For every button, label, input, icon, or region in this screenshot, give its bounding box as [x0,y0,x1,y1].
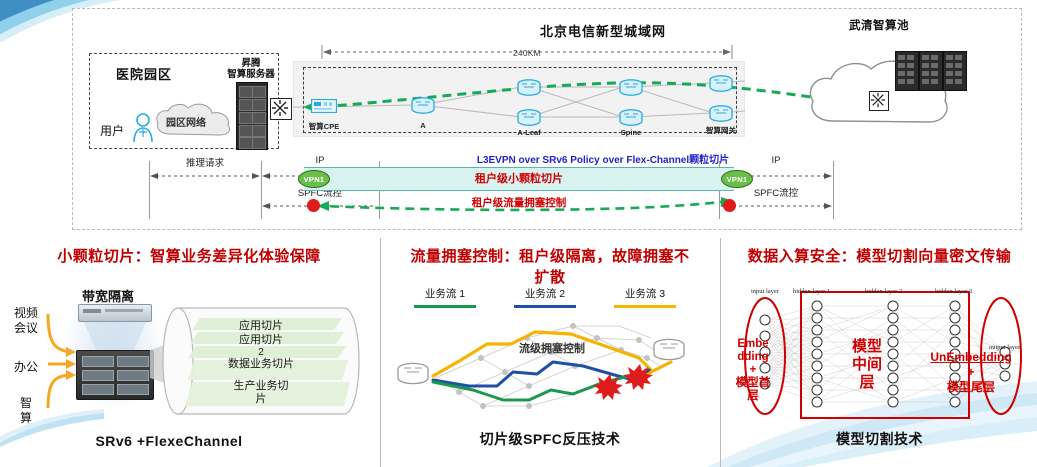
router-icon-aleaf [517,109,541,127]
legend-item-flow1: 业务流 1 [403,284,487,308]
panel-slicing-footer: SRv6 +FlexeChannel [20,433,318,449]
slice-label-4: 数据业务切片 [186,358,336,371]
ascend-server-label-line2: 智算服务器 [227,69,275,80]
measure-arrow-inference [149,169,261,181]
router-icon-spine [619,109,643,127]
vpn-badge-left: VPN1 [298,170,330,188]
annotation-embedding: Embe dding + 模型首 层 [725,338,781,403]
vpn-badge-right: VPN1 [721,170,753,188]
measure-label-ip-right: IP [719,155,833,166]
router-icon-egress [653,338,685,362]
measure-label-inference: 推理请求 [149,155,261,169]
ascend-server-label-line1: 昇腾 [241,58,260,69]
annotation-middle-l1: 模型 [852,338,882,355]
feature-panels: 小颗粒切片：智算业务差异化体验保障 带宽隔离 视频 会议 办公 智 算 [0,238,1037,467]
bandwidth-beam [72,318,158,354]
panel-security: 数据入算安全：模型切割向量密文传输 [720,238,1037,467]
node-label-gateway: 智算网关 [698,125,744,136]
input-label-compute: 智 算 [8,396,44,426]
annotation-unembedding-l2: + [967,365,974,379]
annotation-unembedding-l3: 模型尾层 [947,380,995,394]
campus-title: 医院园区 [116,64,172,83]
campus-cloud-label: 园区网络 [166,114,206,129]
node-label-aleaf: A-Leaf [506,128,552,137]
legend-label-flow3: 业务流 3 [625,288,665,300]
cloud-rack-1 [895,51,919,91]
legend-item-flow2: 业务流 2 [503,284,587,308]
node-label-cpe: 智算CPE [301,121,347,132]
annotation-embedding-l5: 层 [747,390,759,402]
nn-label-hidden3: hidden layer 3 [935,288,972,295]
metro-network-title: 北京电信新型城域网 [473,21,733,40]
nn-label-hidden2: hidden layer 2 [865,288,902,295]
slice-label-5-l2: 片 [256,393,267,405]
panel-congestion-footer: 切片级SPFC反压技术 [381,429,719,449]
legend-label-flow2: 业务流 2 [525,288,565,300]
congestion-marker [593,364,653,400]
ascend-server-rack-icon [236,82,268,150]
user-label: 用户 [100,122,124,139]
topology-frame: 医院园区 用户 园区网络 昇腾 智算服务器 [72,8,1022,230]
srv6-tunnel-path [269,61,829,137]
input-label-video: 视频 会议 [8,306,44,336]
router-icon-aleaf-top [517,79,541,97]
guide-rule-5 [833,161,834,219]
router-icon-spine-top [619,79,643,97]
node-label-spine: Spine [608,128,654,137]
router-icon-ingress [397,362,429,386]
legend-swatch-flow1 [414,305,476,308]
cloud-switch-icon [869,91,889,111]
panel-security-footer: 模型切割技术 [721,429,1037,449]
wuqing-cloud-title: 武清智算池 [815,17,943,33]
slide-root: 医院园区 用户 园区网络 昇腾 智算服务器 [0,0,1037,467]
router-icon-gateway [709,105,733,123]
nn-label-hidden1: hidden layer 1 [793,288,830,295]
input-label-compute-l1: 智 [20,396,32,410]
annotation-embedding-l4: 模型首 [736,377,771,389]
slice-label-5-l1: 生产业务切 [234,380,289,392]
measure-label-ip-left: IP [261,155,379,166]
panel-slicing-title: 小颗粒切片：智算业务差异化体验保障 [0,246,378,267]
network-device [76,350,154,400]
tenant-congestion-label: 租户级流量拥塞控制 [304,195,734,210]
spfc-point-left [307,199,320,212]
legend-label-flow1: 业务流 1 [425,288,465,300]
annotation-embedding-l3: + [750,364,757,376]
tenant-slice-label: 租户级小颗粒切片 [304,170,734,186]
flow-mesh-diagram [395,314,705,418]
line-card-device [78,304,152,322]
user-icon [132,112,154,142]
annotation-embedding-l2: dding [737,351,768,363]
node-label-a: A [400,121,446,130]
flow-congestion-control-label: 流级拥塞控制 [477,340,627,356]
panel-slicing: 小颗粒切片：智算业务差异化体验保障 带宽隔离 视频 会议 办公 智 算 [0,238,378,467]
annotation-middle-l2: 中间 [852,356,882,373]
panel-security-title: 数据入算安全：模型切割向量密文传输 [721,246,1037,267]
nn-label-input: input layer [751,288,779,295]
legend-item-flow3: 业务流 3 [603,284,687,308]
cloud-rack-3 [943,51,967,91]
legend-swatch-flow2 [514,305,576,308]
slice-label-1: 应用切片 [186,320,336,333]
cpe-icon [311,99,337,113]
router-icon-a [411,97,435,115]
router-icon-gateway-top [709,75,733,93]
panel-congestion: 流量拥塞控制：租户级隔离，故障拥塞不扩散 业务流 1 业务流 2 业务流 3 [380,238,719,467]
annotation-middle-l3: 层 [859,374,874,391]
input-label-compute-l2: 算 [20,411,32,425]
hospital-campus-box: 医院园区 用户 园区网络 昇腾 智算服务器 [89,53,279,149]
input-label-office: 办公 [8,360,44,375]
flow-legend: 业务流 1 业务流 2 业务流 3 [381,284,719,312]
spfc-point-right [723,199,736,212]
annotation-unembedding-l1: UnEmbedding [930,350,1011,364]
input-label-video-l1: 视频 [14,306,38,320]
slice-label-5: 生产业务切 片 [186,380,336,406]
measure-arrow-spfc-right [719,199,833,211]
cloud-rack-2 [919,51,943,91]
annotation-embedding-l1: Embe [737,338,768,350]
annotation-middle-layers: 模型 中间 层 [839,338,895,392]
panel-congestion-title: 流量拥塞控制：租户级隔离，故障拥塞不扩散 [381,246,719,288]
annotation-unembedding: UnEmbedding + 模型尾层 [909,350,1033,395]
distance-label: 240KM [321,49,733,58]
input-label-video-l2: 会议 [14,321,38,335]
legend-swatch-flow3 [614,305,676,308]
